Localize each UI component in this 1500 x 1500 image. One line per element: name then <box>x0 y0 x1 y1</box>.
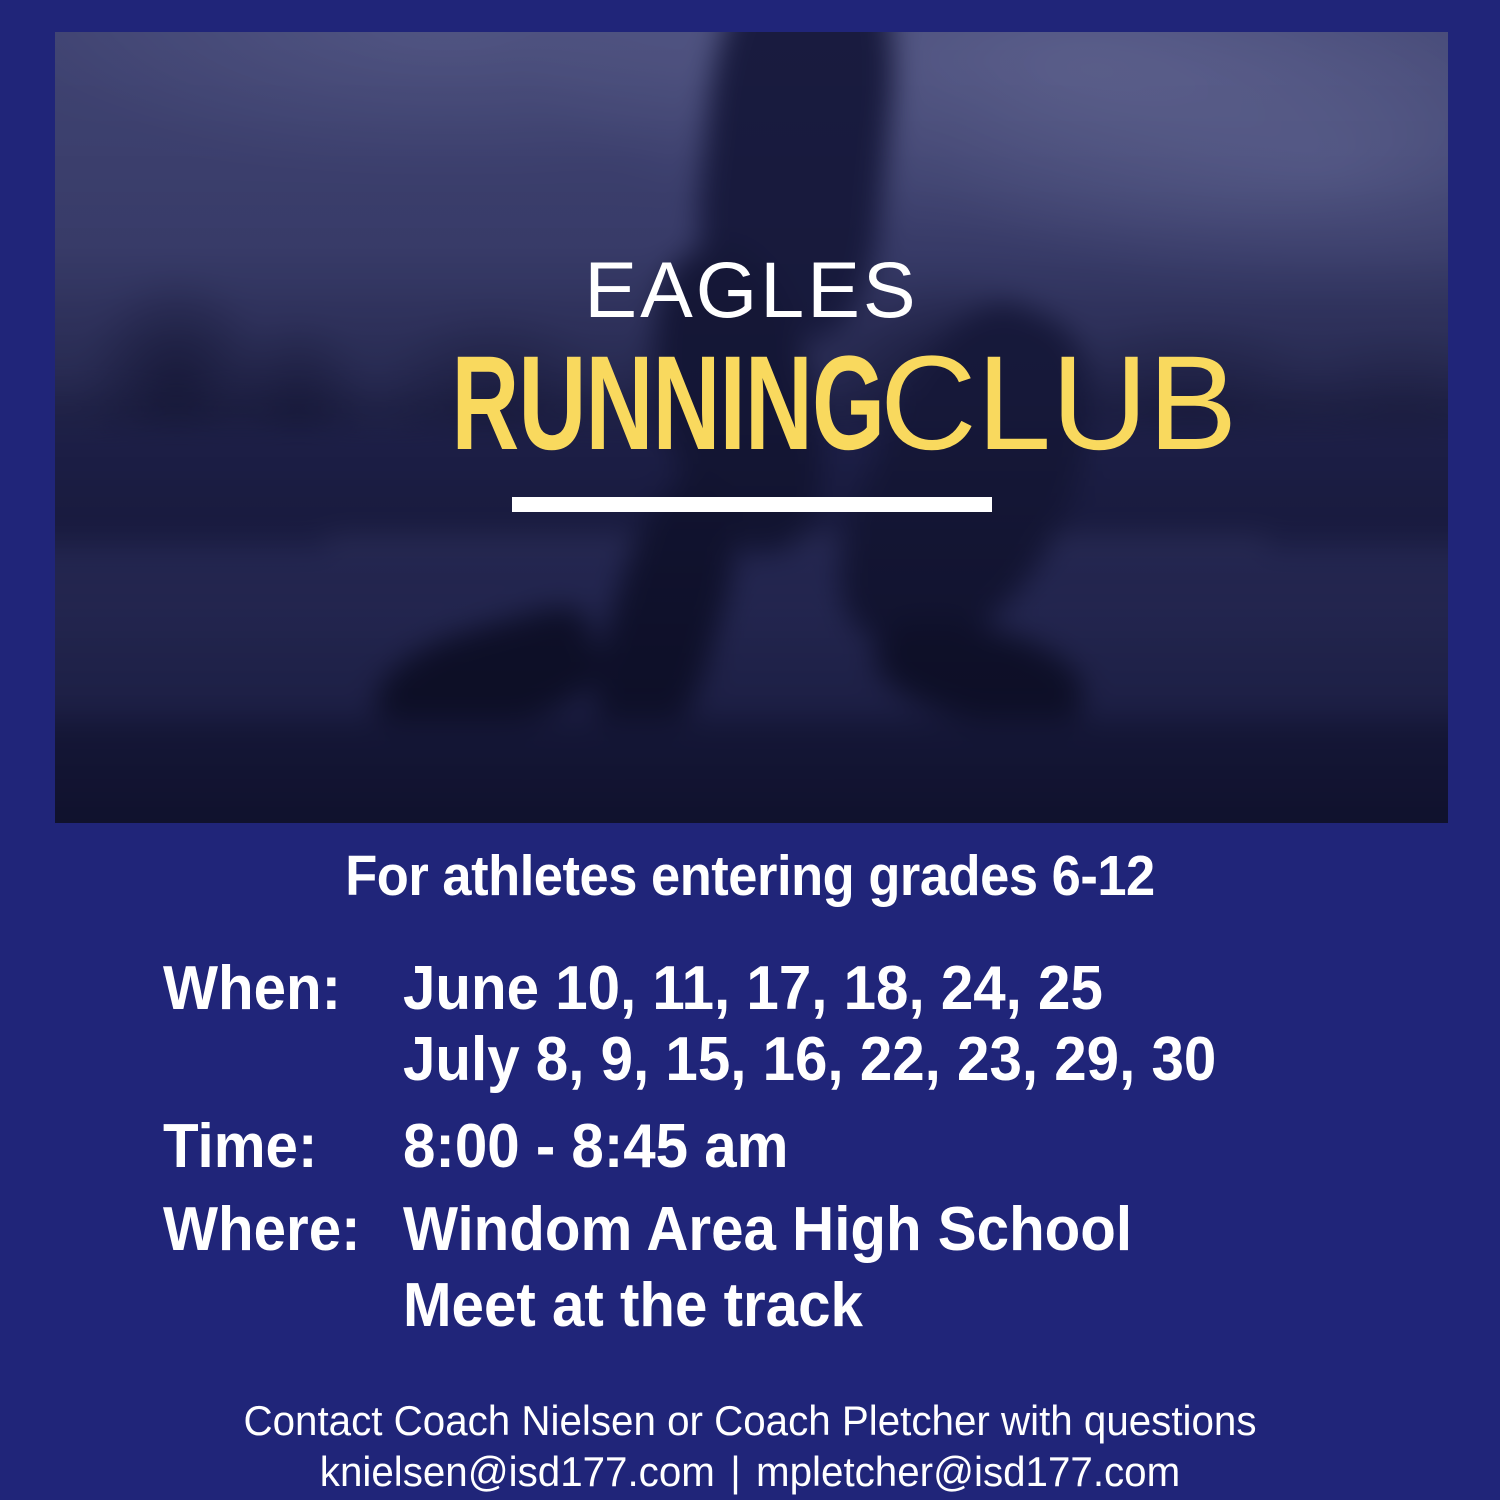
title-eagles: EAGLES <box>55 250 1448 329</box>
email-separator: | <box>715 1448 756 1495</box>
detail-value-july-dates: July 8, 9, 15, 16, 22, 23, 29, 30 <box>403 1023 1216 1096</box>
detail-value-location: Windom Area High School <box>403 1193 1132 1266</box>
email-nielsen[interactable]: knielsen@isd177.com <box>320 1448 715 1495</box>
detail-row-where-continued: Where: Meet at the track <box>163 1269 1413 1342</box>
contact-footer: Contact Coach Nielsen or Coach Pletcher … <box>0 1396 1500 1497</box>
detail-label-when: When: <box>163 952 389 1025</box>
email-pletcher[interactable]: mpletcher@isd177.com <box>756 1448 1180 1495</box>
running-club-flyer: EAGLES RUNNINGCLUB For athletes entering… <box>0 0 1500 1500</box>
detail-row-where: Where: Windom Area High School <box>163 1193 1413 1266</box>
title-running-club: RUNNINGCLUB <box>55 337 1448 471</box>
contact-instruction: Contact Coach Nielsen or Coach Pletcher … <box>30 1396 1470 1446</box>
detail-row-time: Time: 8:00 - 8:45 am <box>163 1110 1413 1183</box>
detail-label-time: Time: <box>163 1110 389 1183</box>
detail-value-june-dates: June 10, 11, 17, 18, 24, 25 <box>403 952 1103 1025</box>
details-list: When: June 10, 11, 17, 18, 24, 25 When: … <box>163 952 1413 1346</box>
detail-value-meeting-point: Meet at the track <box>403 1269 863 1342</box>
detail-value-time: 8:00 - 8:45 am <box>403 1110 789 1183</box>
title-underline-rule <box>512 497 992 512</box>
tagline: For athletes entering grades 6-12 <box>60 843 1440 909</box>
contact-emails: knielsen@isd177.com|mpletcher@isd177.com <box>30 1446 1470 1497</box>
detail-label-where: Where: <box>163 1193 389 1266</box>
detail-row-when: When: June 10, 11, 17, 18, 24, 25 <box>163 952 1413 1025</box>
title-club-word: CLUB <box>880 337 1237 471</box>
detail-row-when-continued: When: July 8, 9, 15, 16, 22, 23, 29, 30 <box>163 1023 1413 1096</box>
title-running-word: RUNNING <box>451 337 884 471</box>
title-lockup: EAGLES RUNNINGCLUB <box>55 250 1448 512</box>
